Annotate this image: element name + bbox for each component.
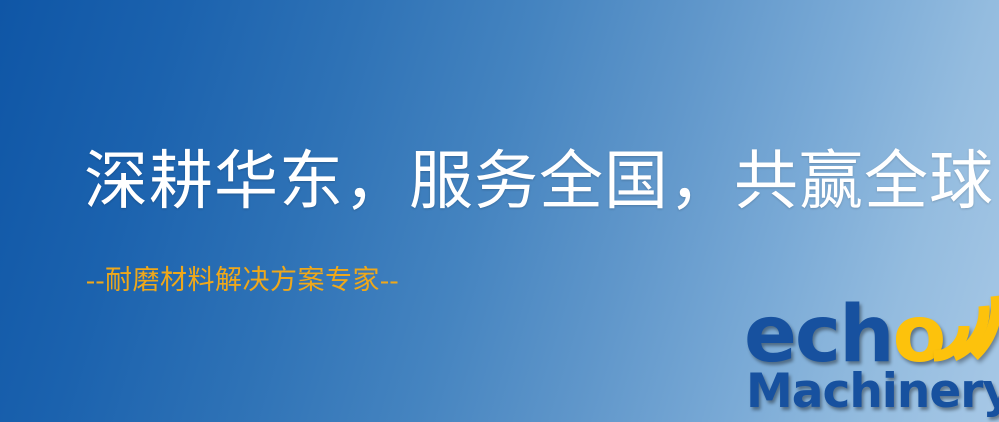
logo-wordmark: ech o bbox=[744, 296, 945, 372]
signal-waves-icon bbox=[926, 294, 999, 366]
hero-banner: 深耕华东，服务全国，共赢全球 --耐磨材料解决方案专家-- ech o Mach… bbox=[0, 0, 999, 422]
logo-tagline: Machinery bbox=[746, 368, 999, 415]
logo-tagline-row: Machinery ® bbox=[746, 368, 999, 415]
banner-subtitle: --耐磨材料解决方案专家-- bbox=[86, 267, 399, 294]
logo-wordmark-prefix: ech bbox=[744, 300, 893, 372]
company-logo[interactable]: ech o Machinery ® bbox=[744, 296, 999, 422]
banner-headline: 深耕华东，服务全国，共赢全球 bbox=[84, 150, 994, 214]
